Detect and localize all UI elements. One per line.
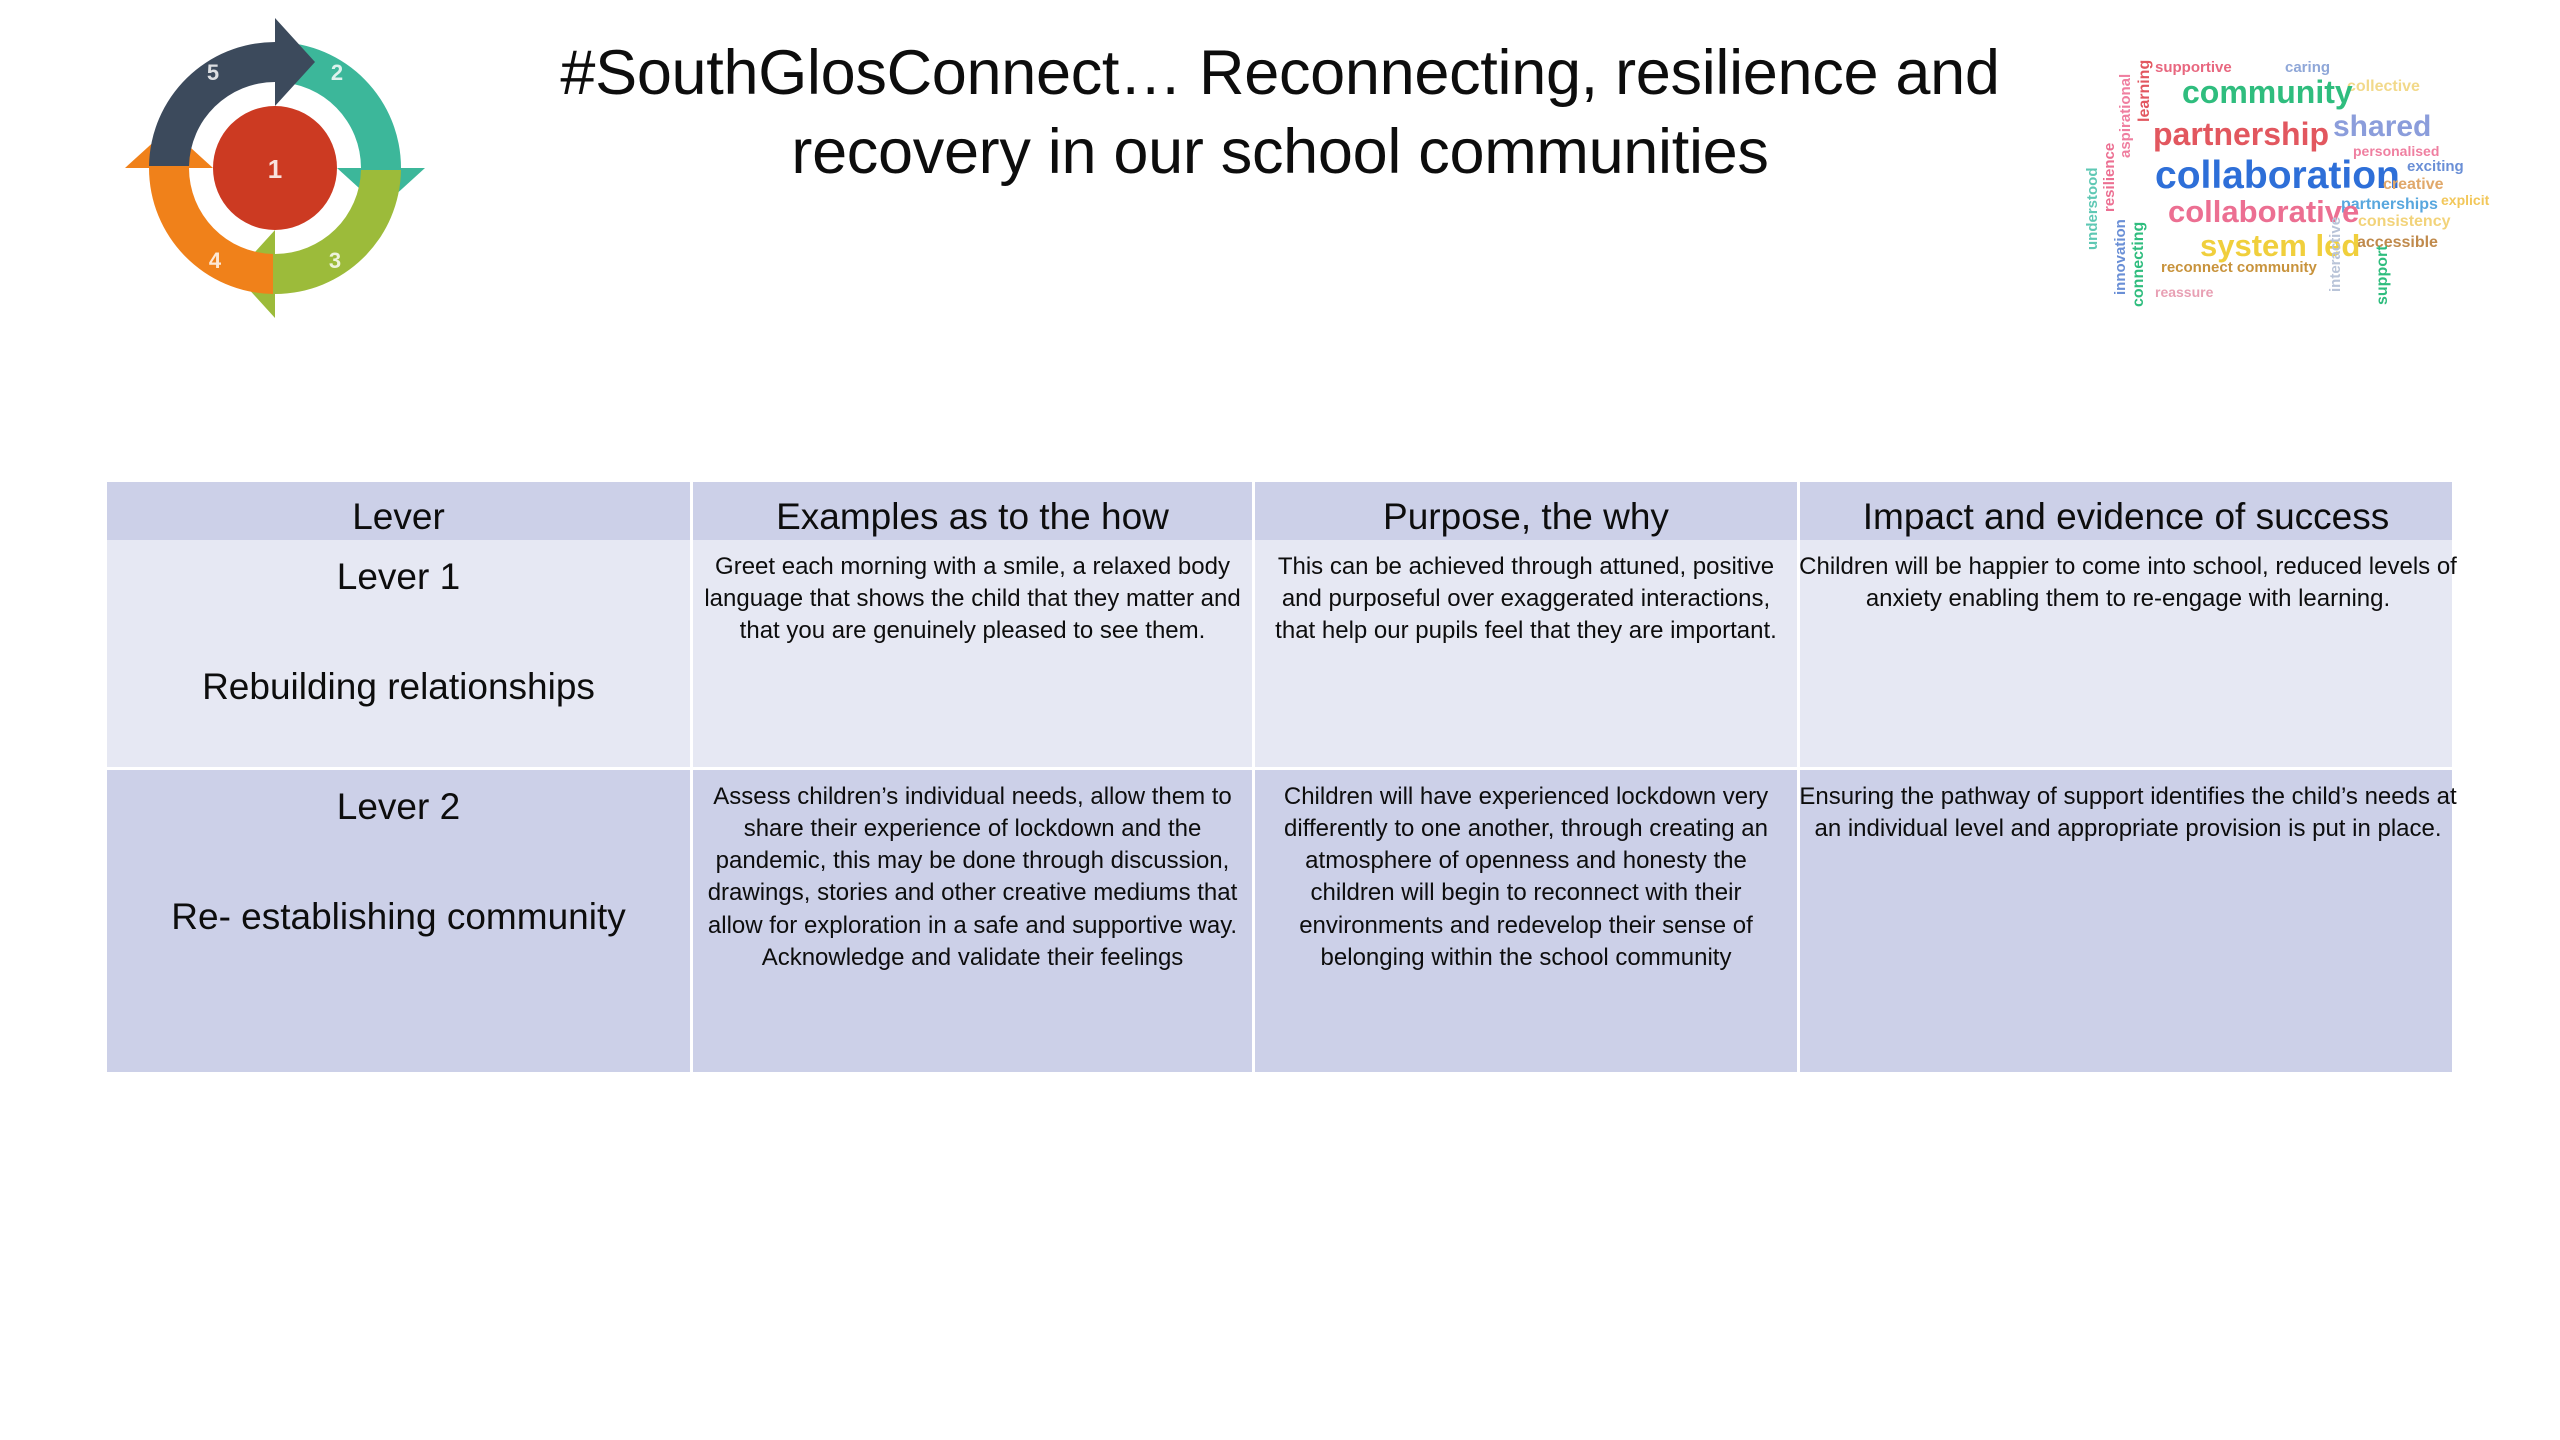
column-header-impact: Impact and evidence of success [1800,482,2452,540]
word-cloud-word: explicit [2441,193,2489,207]
cycle-label-5: 5 [207,60,219,85]
word-cloud-word: learning [2137,60,2153,122]
cell-lever-2: Lever 2 Re- establishing community [107,770,693,1072]
word-cloud-word: connecting [2131,222,2147,307]
levers-table: Lever Examples as to the how Purpose, th… [107,482,2452,1072]
cell-impact-text: Children will be happier to come into sc… [1786,540,2470,615]
word-cloud-word: supportive [2155,60,2232,75]
cell-impact-1: Children will be happier to come into sc… [1800,540,2452,770]
cell-how-1: Greet each morning with a smile, a relax… [693,540,1255,770]
column-header-impact-label: Impact and evidence of success [1800,482,2452,538]
cycle-label-1: 1 [268,154,282,184]
word-cloud-word: creative [2383,177,2444,193]
word-cloud-word: consistency [2358,214,2450,230]
slide-title: #SouthGlosConnect… Reconnecting, resilie… [500,34,2060,193]
table-row: Lever 2 Re- establishing community Asses… [107,770,2452,1072]
column-header-how-label: Examples as to the how [693,482,1252,538]
word-cloud-word: shared [2333,112,2431,142]
cell-why-2: Children will have experienced lockdown … [1255,770,1800,1072]
word-cloud-word: partnership [2153,118,2329,150]
column-header-lever: Lever [107,482,693,540]
word-cloud-word: support [2375,245,2391,305]
column-header-why-label: Purpose, the why [1255,482,1797,538]
column-header-lever-label: Lever [107,482,690,538]
cycle-label-3: 3 [329,248,341,273]
cycle-label-4: 4 [209,248,222,273]
lever-name: Re- establishing community [107,828,690,938]
word-cloud-word: innovation [2113,219,2128,295]
word-cloud-word: caring [2285,60,2330,75]
column-header-how: Examples as to the how [693,482,1255,540]
table-row: Lever 1 Rebuilding relationships Greet e… [107,540,2452,770]
lever-number: Lever 1 [107,540,690,598]
lever-number: Lever 2 [107,770,690,828]
word-cloud-image: supportivecaringcollectivecommunityshare… [2085,52,2485,312]
cell-why-text: Children will have experienced lockdown … [1255,770,1797,974]
word-cloud-word: community [2182,76,2353,108]
word-cloud-word: understood [2085,168,2100,251]
cell-lever-1: Lever 1 Rebuilding relationships [107,540,693,770]
word-cloud-word: collaboration [2155,156,2400,195]
column-header-why: Purpose, the why [1255,482,1800,540]
slide-header: 2 3 4 5 1 #SouthGlosConnect… Reconnectin… [0,0,2560,340]
cell-impact-2: Ensuring the pathway of support identifi… [1800,770,2452,1072]
word-cloud-word: exciting [2407,159,2464,174]
cell-how-text: Assess children’s individual needs, allo… [693,770,1252,974]
cell-why-text: This can be achieved through attuned, po… [1255,540,1797,647]
cell-impact-text: Ensuring the pathway of support identifi… [1786,770,2470,845]
word-cloud-word: accessible [2357,235,2438,251]
word-cloud-word: reassure [2155,285,2213,299]
word-cloud-word: reconnect community [2161,260,2317,275]
word-cloud-word: interactive [2328,217,2343,292]
word-cloud-word: aspirational [2118,74,2133,158]
cell-how-text: Greet each morning with a smile, a relax… [693,540,1252,647]
cell-why-1: This can be achieved through attuned, po… [1255,540,1800,770]
lever-name: Rebuilding relationships [107,598,690,708]
cell-how-2: Assess children’s individual needs, allo… [693,770,1255,1072]
five-step-cycle-diagram-icon: 2 3 4 5 1 [125,18,425,318]
word-cloud-word: resilience [2102,143,2117,212]
table-header-row: Lever Examples as to the how Purpose, th… [107,482,2452,540]
cycle-label-2: 2 [331,60,343,85]
word-cloud-word: collective [2347,79,2420,95]
